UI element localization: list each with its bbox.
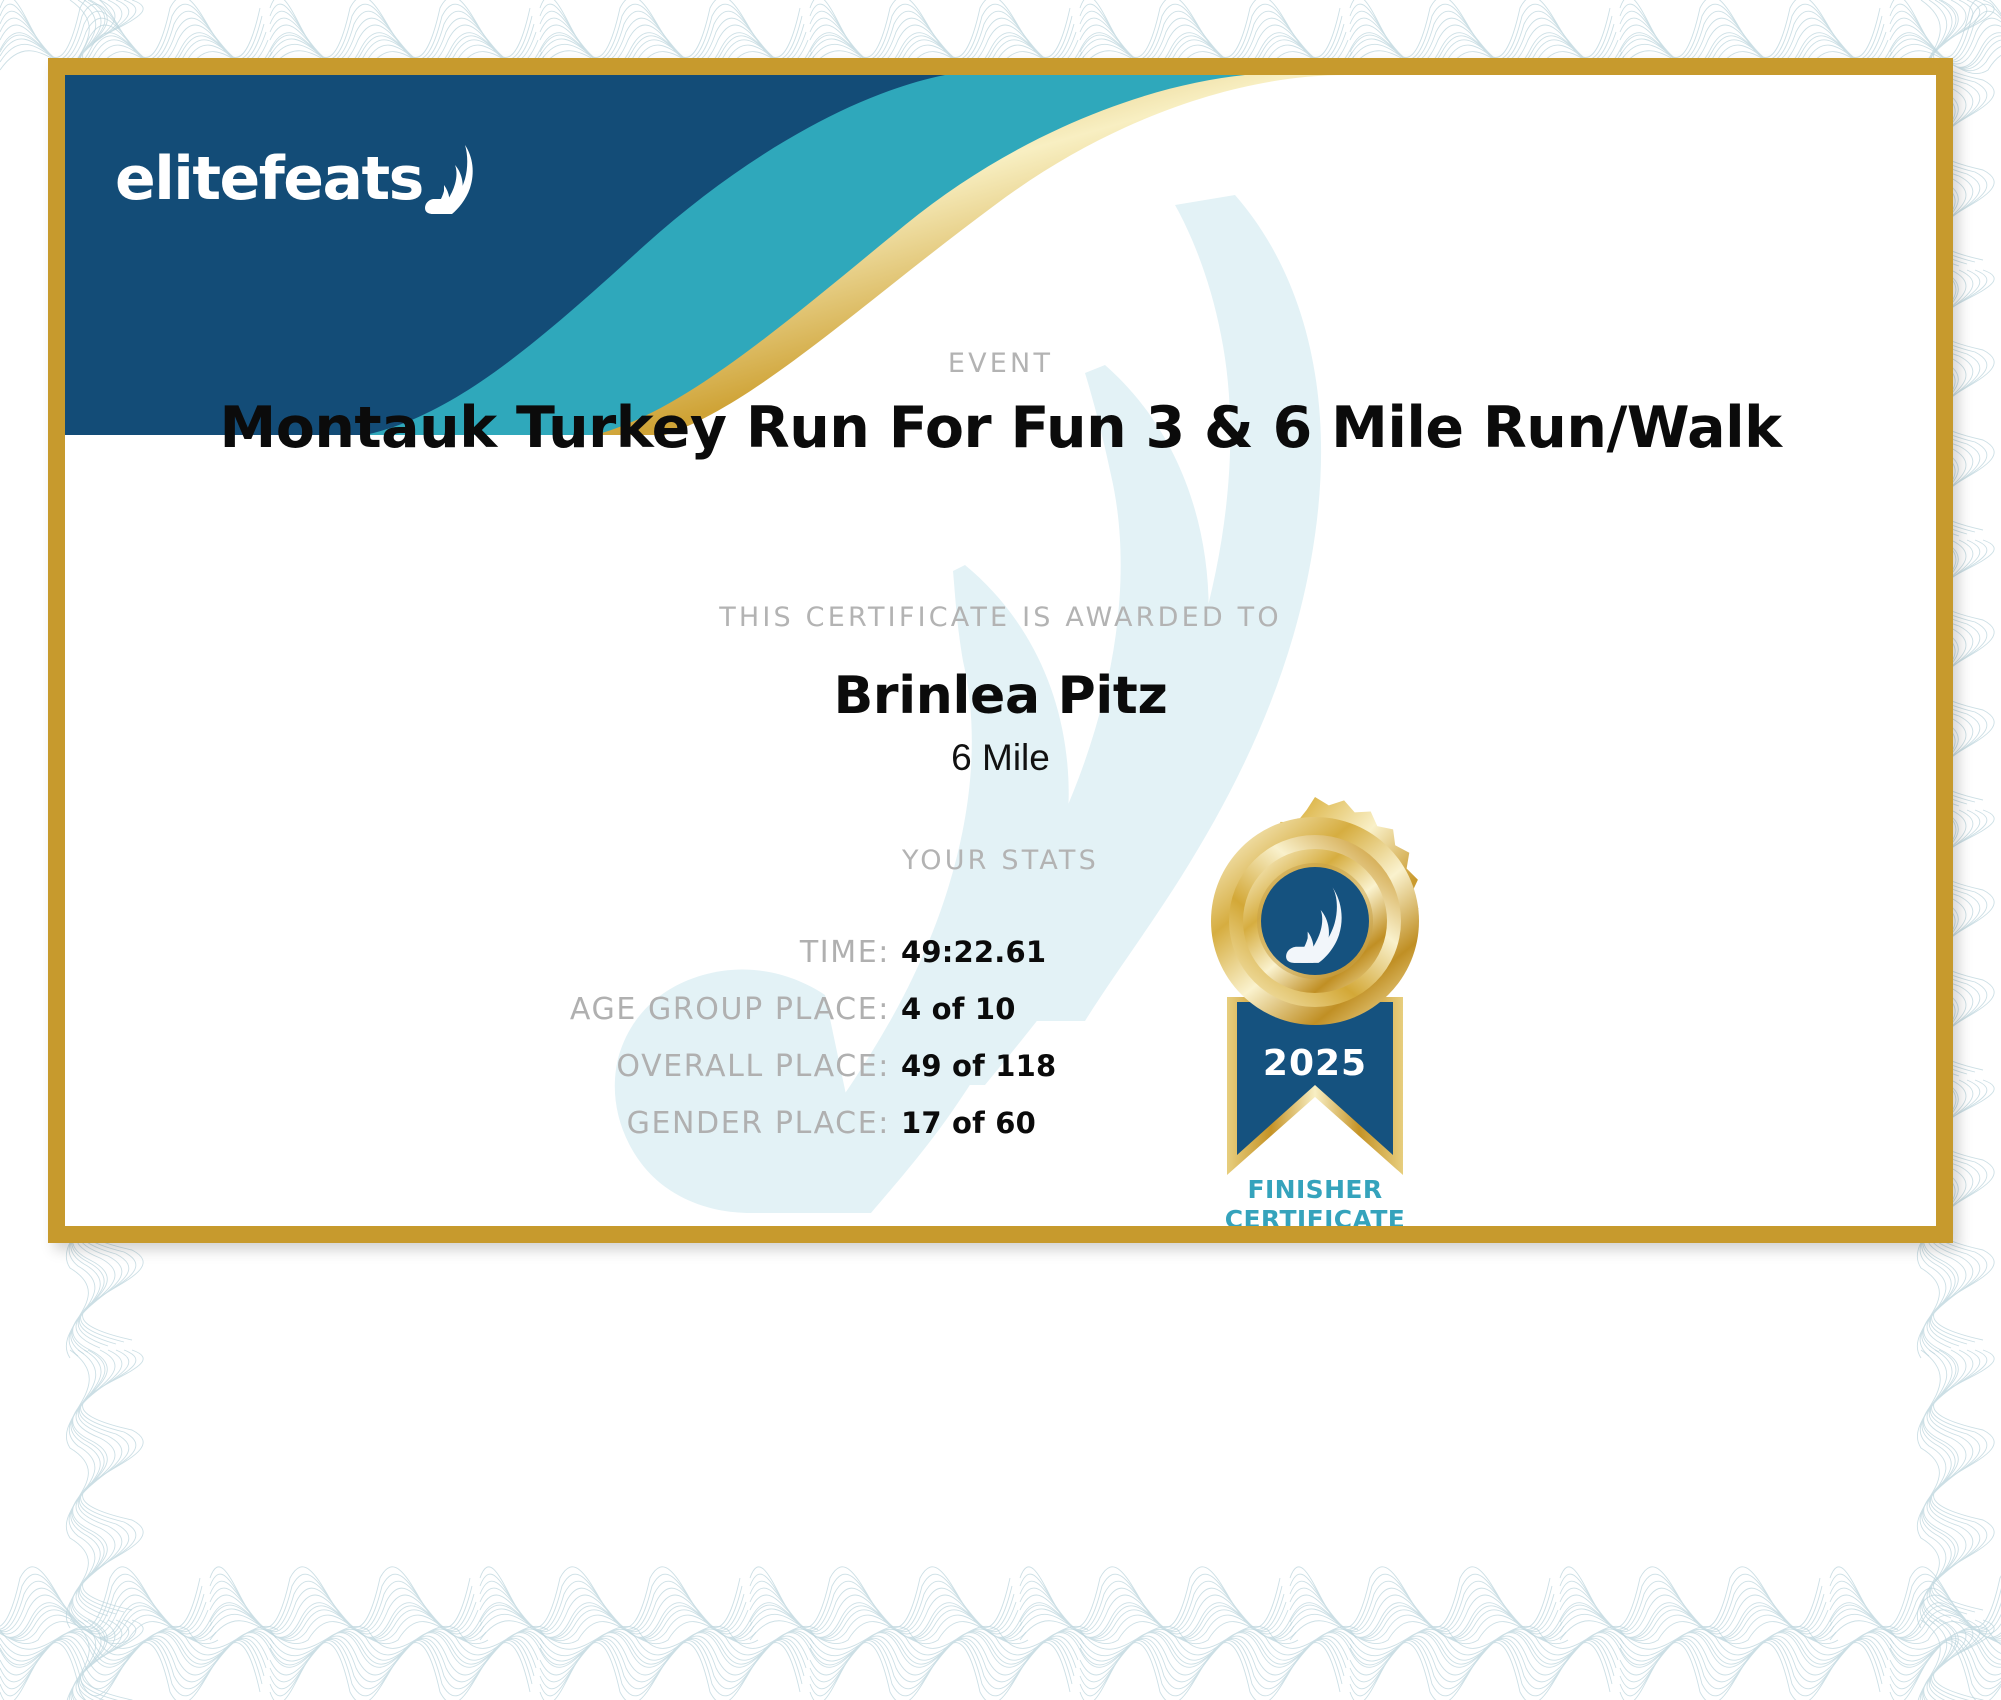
stat-row-time: TIME: 49:22.61 bbox=[65, 935, 1936, 970]
stat-key: GENDER PLACE: bbox=[65, 1106, 890, 1141]
stats-list: TIME: 49:22.61 AGE GROUP PLACE: 4 of 10 … bbox=[65, 935, 1936, 1163]
medal-caption: FINISHER CERTIFICATE bbox=[1165, 1175, 1465, 1226]
stat-value: 17 of 60 bbox=[890, 1106, 1036, 1140]
stat-key: AGE GROUP PLACE: bbox=[65, 992, 890, 1027]
medal-year: 2025 bbox=[1263, 1043, 1367, 1084]
recipient-division: 6 Mile bbox=[65, 737, 1936, 779]
stat-value: 49 of 118 bbox=[890, 1049, 1056, 1083]
your-stats-label: YOUR STATS bbox=[65, 845, 1936, 876]
stat-key: OVERALL PLACE: bbox=[65, 1049, 890, 1084]
stat-value: 49:22.61 bbox=[890, 935, 1046, 969]
stat-row-age-group-place: AGE GROUP PLACE: 4 of 10 bbox=[65, 992, 1936, 1027]
certificate-frame: elitefeats EVENT Montauk Turkey Run For … bbox=[48, 58, 1953, 1243]
event-title: Montauk Turkey Run For Fun 3 & 6 Mile Ru… bbox=[65, 395, 1936, 461]
awarded-to-label: THIS CERTIFICATE IS AWARDED TO bbox=[65, 602, 1936, 633]
medal-caption-line1: FINISHER bbox=[1165, 1175, 1465, 1205]
recipient-name: Brinlea Pitz bbox=[65, 666, 1936, 726]
certificate-content: EVENT Montauk Turkey Run For Fun 3 & 6 M… bbox=[65, 75, 1936, 1226]
certificate-body: elitefeats EVENT Montauk Turkey Run For … bbox=[65, 75, 1936, 1226]
certificate-page: elitefeats EVENT Montauk Turkey Run For … bbox=[0, 0, 2001, 1700]
stat-row-overall-place: OVERALL PLACE: 49 of 118 bbox=[65, 1049, 1936, 1084]
medal-disc bbox=[1211, 797, 1419, 1025]
stat-key: TIME: bbox=[65, 935, 890, 970]
stat-row-gender-place: GENDER PLACE: 17 of 60 bbox=[65, 1106, 1936, 1141]
stat-value: 4 of 10 bbox=[890, 992, 1016, 1026]
event-label: EVENT bbox=[65, 348, 1936, 379]
finisher-medal: 2025 bbox=[1165, 797, 1465, 1226]
medal-caption-line2: CERTIFICATE bbox=[1165, 1205, 1465, 1227]
